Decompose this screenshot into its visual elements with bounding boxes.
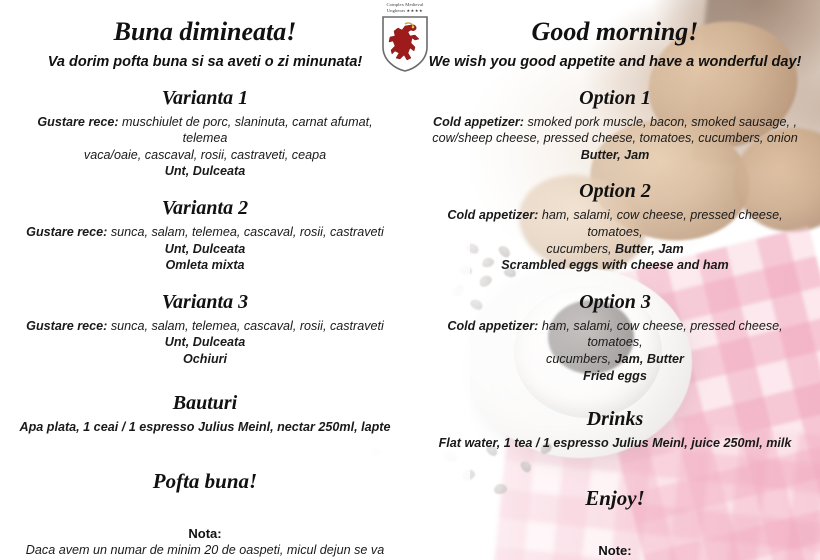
- menu-section-option-2: Option 2 Cold appetizer: ham, salami, co…: [410, 180, 820, 273]
- greeting-subtitle-en: We wish you good appetite and have a won…: [410, 54, 820, 70]
- section-appetizer-line-2: cow/sheep cheese, pressed cheese, tomato…: [410, 130, 820, 147]
- section-extra: Fried eggs: [410, 368, 820, 385]
- appetizer-items: muschiulet de porc, slaninuta, carnat af…: [119, 115, 373, 146]
- appetizer-label: Gustare rece:: [26, 319, 107, 333]
- menu-section-option-3: Option 3 Cold appetizer: ham, salami, co…: [410, 291, 820, 384]
- appetizer-label: Cold appetizer:: [433, 115, 524, 129]
- section-appetizer-line: Gustare rece: sunca, salam, telemea, cas…: [0, 318, 410, 335]
- section-extra: Butter, Jam: [410, 147, 820, 164]
- appetizer-label: Gustare rece:: [37, 115, 118, 129]
- greeting-title-ro: Buna dimineata!: [0, 18, 410, 47]
- section-appetizer-line: Gustare rece: sunca, salam, telemea, cas…: [0, 224, 410, 241]
- section-title: Varianta 3: [0, 291, 410, 314]
- closing-message-en: Enjoy!: [410, 486, 820, 511]
- section-title: Option 3: [410, 291, 820, 314]
- hotel-crest: Complex Medieval Ungheras ★★★★: [368, 2, 442, 82]
- section-appetizer-line: Cold appetizer: ham, salami, cow cheese,…: [410, 207, 820, 240]
- menu-columns: Buna dimineata! Va dorim pofta buna si s…: [0, 0, 820, 560]
- section-extra: Omleta mixta: [0, 257, 410, 274]
- appetizer-items: ham, salami, cow cheese, pressed cheese,…: [538, 319, 782, 350]
- section-extra: Scrambled eggs with cheese and ham: [410, 257, 820, 274]
- appetizer-items: smoked pork muscle, bacon, smoked sausag…: [524, 115, 797, 129]
- menu-section-varianta-2: Varianta 2 Gustare rece: sunca, salam, t…: [0, 197, 410, 274]
- section-extra: Unt, Dulceata: [0, 241, 410, 258]
- menu-column-romanian: Buna dimineata! Va dorim pofta buna si s…: [0, 0, 410, 560]
- breakfast-menu-page: Complex Medieval Ungheras ★★★★ Buna dimi…: [0, 0, 820, 560]
- section-title: Varianta 1: [0, 87, 410, 110]
- drinks-body: Apa plata, 1 ceai / 1 espresso Julius Me…: [0, 419, 410, 436]
- appetizer-items: ham, salami, cow cheese, pressed cheese,…: [538, 208, 782, 239]
- appetizer-items-cont: cucumbers,: [546, 352, 615, 366]
- closing-message-ro: Pofta buna!: [0, 469, 410, 494]
- section-appetizer-line-2: vaca/oaie, cascaval, rosii, castraveti, …: [0, 147, 410, 164]
- menu-section-drinks-en: Drinks Flat water, 1 tea / 1 espresso Ju…: [410, 408, 820, 452]
- crest-stars: ★★★★: [406, 8, 423, 13]
- menu-column-english: Good morning! We wish you good appetite …: [410, 0, 820, 560]
- note-body: Daca avem un numar de minim 20 de oaspet…: [0, 542, 410, 560]
- appetizer-extra-inline: Jam, Butter: [615, 352, 684, 366]
- greeting-subtitle-ro: Va dorim pofta buna si sa aveti o zi min…: [0, 54, 410, 70]
- section-title: Varianta 2: [0, 197, 410, 220]
- section-appetizer-line: Gustare rece: muschiulet de porc, slanin…: [0, 114, 410, 147]
- drinks-title: Drinks: [410, 408, 820, 431]
- appetizer-items: sunca, salam, telemea, cascaval, rosii, …: [107, 319, 383, 333]
- menu-section-drinks-ro: Bauturi Apa plata, 1 ceai / 1 espresso J…: [0, 392, 410, 436]
- section-appetizer-line: Cold appetizer: ham, salami, cow cheese,…: [410, 318, 820, 351]
- appetizer-items-cont: cucumbers,: [546, 242, 615, 256]
- note-title: Nota:: [0, 526, 410, 541]
- appetizer-items: sunca, salam, telemea, cascaval, rosii, …: [107, 225, 383, 239]
- section-title: Option 2: [410, 180, 820, 203]
- appetizer-label: Gustare rece:: [26, 225, 107, 239]
- section-title: Option 1: [410, 87, 820, 110]
- section-extra: Unt, Dulceata: [0, 334, 410, 351]
- appetizer-label: Cold appetizer:: [447, 319, 538, 333]
- section-appetizer-line-2: cucumbers, Jam, Butter: [410, 351, 820, 368]
- note-title: Note:: [410, 543, 820, 558]
- greeting-title-en: Good morning!: [410, 18, 820, 47]
- note-block-en: Note: If we have more than 20 guests, br…: [410, 543, 820, 560]
- note-block-ro: Nota: Daca avem un numar de minim 20 de …: [0, 526, 410, 560]
- menu-section-varianta-3: Varianta 3 Gustare rece: sunca, salam, t…: [0, 291, 410, 368]
- menu-section-option-1: Option 1 Cold appetizer: smoked pork mus…: [410, 87, 820, 164]
- section-extra: Ochiuri: [0, 351, 410, 368]
- crest-name-text: Ungheras: [387, 8, 405, 13]
- appetizer-label: Cold appetizer:: [447, 208, 538, 222]
- drinks-title: Bauturi: [0, 392, 410, 415]
- menu-section-varianta-1: Varianta 1 Gustare rece: muschiulet de p…: [0, 87, 410, 180]
- crest-name-line2: Ungheras ★★★★: [368, 8, 442, 14]
- drinks-body: Flat water, 1 tea / 1 espresso Julius Me…: [410, 435, 820, 452]
- appetizer-extra-inline: Butter, Jam: [615, 242, 684, 256]
- section-appetizer-line-2: cucumbers, Butter, Jam: [410, 241, 820, 258]
- section-appetizer-line: Cold appetizer: smoked pork muscle, baco…: [410, 114, 820, 131]
- griffin-shield-icon: [368, 15, 442, 78]
- section-extra: Unt, Dulceata: [0, 163, 410, 180]
